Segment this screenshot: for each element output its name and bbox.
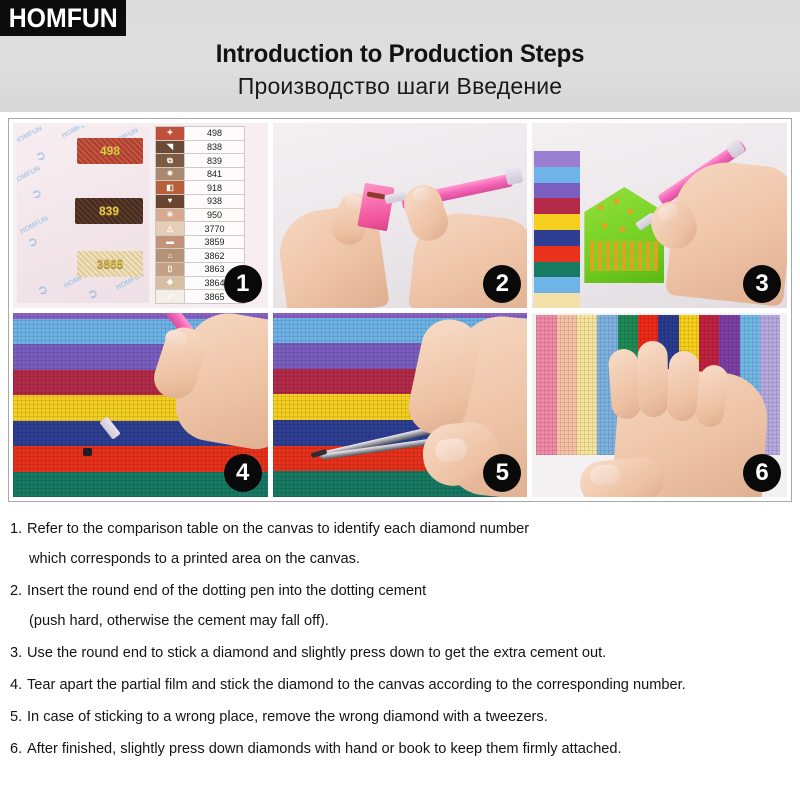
finger-2 <box>638 340 669 417</box>
instruction-item-3: 3. Use the round end to stick a diamond … <box>10 638 794 668</box>
diamond-bead <box>614 199 619 204</box>
pen-cap <box>504 167 523 186</box>
instruction-text: Refer to the comparison table on the can… <box>27 514 794 574</box>
instruction-number: 6. <box>10 734 27 764</box>
color-swatch-symbol: ❖ <box>156 277 185 290</box>
instruction-line: Tear apart the partial film and stick th… <box>27 670 794 700</box>
color-swatch-symbol: ∕∕ <box>156 290 185 303</box>
diamond-bead <box>602 223 607 228</box>
diamond-bag-1: 498 <box>77 138 143 164</box>
instruction-item-2: 2. Insert the round end of the dotting p… <box>10 576 794 636</box>
diamond-bead <box>628 209 633 214</box>
instruction-line: In case of sticking to a wrong place, re… <box>27 702 794 732</box>
canvas-stripes <box>534 151 580 308</box>
dmc-code: 938 <box>185 195 244 208</box>
instruction-line: After finished, slightly press down diam… <box>27 734 794 764</box>
instruction-number: 2. <box>10 576 27 606</box>
steps-image-grid: HOMFUN HOMFUN HOMFUN HOMFUN HOMFUN HOMFU… <box>8 118 792 502</box>
table-row: ◧ 918 <box>156 181 244 195</box>
instruction-list: 1. Refer to the comparison table on the … <box>10 514 794 766</box>
table-row: ♥ 938 <box>156 195 244 209</box>
instruction-sheet: HOMFUN Introduction to Production Steps … <box>0 0 800 800</box>
instruction-text: Insert the round end of the dotting pen … <box>27 576 794 636</box>
color-swatch-symbol: ◥ <box>156 141 185 154</box>
instruction-line: Refer to the comparison table on the can… <box>27 514 794 544</box>
instruction-text: Use the round end to stick a diamond and… <box>27 638 794 668</box>
instruction-item-5: 5. In case of sticking to a wrong place,… <box>10 702 794 732</box>
diamond-on-pen-tip <box>83 448 92 456</box>
instruction-number: 5. <box>10 702 27 732</box>
color-swatch-symbol: ✦ <box>156 127 185 140</box>
diamond-bag-tray: HOMFUN HOMFUN HOMFUN HOMFUN HOMFUN HOMFU… <box>17 126 149 303</box>
diamond-bead <box>620 227 625 232</box>
instruction-number: 4. <box>10 670 27 700</box>
color-swatch-symbol: ◧ <box>156 181 185 194</box>
panel-step-2: 2 <box>273 123 528 308</box>
instruction-line: Insert the round end of the dotting pen … <box>27 576 794 606</box>
color-swatch-symbol: ♥ <box>156 195 185 208</box>
table-row: ⌂ 3862 <box>156 249 244 263</box>
panel-step-1: HOMFUN HOMFUN HOMFUN HOMFUN HOMFUN HOMFU… <box>13 123 268 308</box>
instruction-text: In case of sticking to a wrong place, re… <box>27 702 794 732</box>
diamond-bag-3: 3865 <box>77 251 143 277</box>
panel-step-6: 6 <box>532 313 787 498</box>
table-row: ✦ 498 <box>156 127 244 141</box>
instruction-text: After finished, slightly press down diam… <box>27 734 794 764</box>
diamond-bead-cluster <box>590 241 658 271</box>
panel-step-5: 5 <box>273 313 528 498</box>
page-title-english: Introduction to Production Steps <box>16 40 784 69</box>
diamond-bag-2: 839 <box>75 198 143 224</box>
brand-logo-text: HOMFUN <box>8 5 117 32</box>
dmc-code: 498 <box>185 127 244 140</box>
diamond-bead <box>598 205 603 210</box>
step-badge-2: 2 <box>483 265 521 303</box>
dmc-code: 950 <box>185 209 244 222</box>
page-title-russian: Производство шаги Введение <box>0 73 800 100</box>
color-swatch-symbol: ✷ <box>156 168 185 181</box>
dmc-code: 841 <box>185 168 244 181</box>
step-badge-1: 1 <box>224 265 262 303</box>
table-row: ✳ 950 <box>156 209 244 223</box>
color-swatch-symbol: ▬ <box>156 236 185 249</box>
color-swatch-symbol: ⌂ <box>156 249 185 262</box>
header: HOMFUN Introduction to Production Steps … <box>0 0 800 112</box>
panel-step-4: 4 <box>13 313 268 498</box>
dmc-code: 3770 <box>185 222 244 235</box>
instruction-item-1: 1. Refer to the comparison table on the … <box>10 514 794 574</box>
brand-logo: HOMFUN <box>0 0 126 36</box>
dmc-code: 839 <box>185 154 244 167</box>
dmc-code: 918 <box>185 181 244 194</box>
step-badge-4: 4 <box>224 454 262 492</box>
instruction-item-6: 6. After finished, slightly press down d… <box>10 734 794 764</box>
instruction-line: (push hard, otherwise the cement may fal… <box>27 606 794 636</box>
table-row: △ 3770 <box>156 222 244 236</box>
instruction-item-4: 4. Tear apart the partial film and stick… <box>10 670 794 700</box>
fingernail <box>434 437 468 462</box>
color-swatch-symbol: ⧉ <box>156 154 185 167</box>
table-row: ⧉ 839 <box>156 154 244 168</box>
instruction-line: Use the round end to stick a diamond and… <box>27 638 794 668</box>
instruction-text: Tear apart the partial film and stick th… <box>27 670 794 700</box>
color-swatch-symbol: ✳ <box>156 209 185 222</box>
table-row: ▬ 3859 <box>156 236 244 250</box>
instruction-number: 1. <box>10 514 27 544</box>
step-badge-3: 3 <box>743 265 781 303</box>
dmc-code: 3862 <box>185 249 244 262</box>
step-badge-6: 6 <box>743 454 781 492</box>
instruction-line: which corresponds to a printed area on t… <box>27 544 794 574</box>
dmc-code: 838 <box>185 141 244 154</box>
color-swatch-symbol: ▯ <box>156 263 185 276</box>
panel-step-3: 3 <box>532 123 787 308</box>
table-row: ✷ 841 <box>156 168 244 182</box>
color-swatch-symbol: △ <box>156 222 185 235</box>
dmc-code: 3859 <box>185 236 244 249</box>
table-row: ◥ 838 <box>156 141 244 155</box>
instruction-number: 3. <box>10 638 27 668</box>
